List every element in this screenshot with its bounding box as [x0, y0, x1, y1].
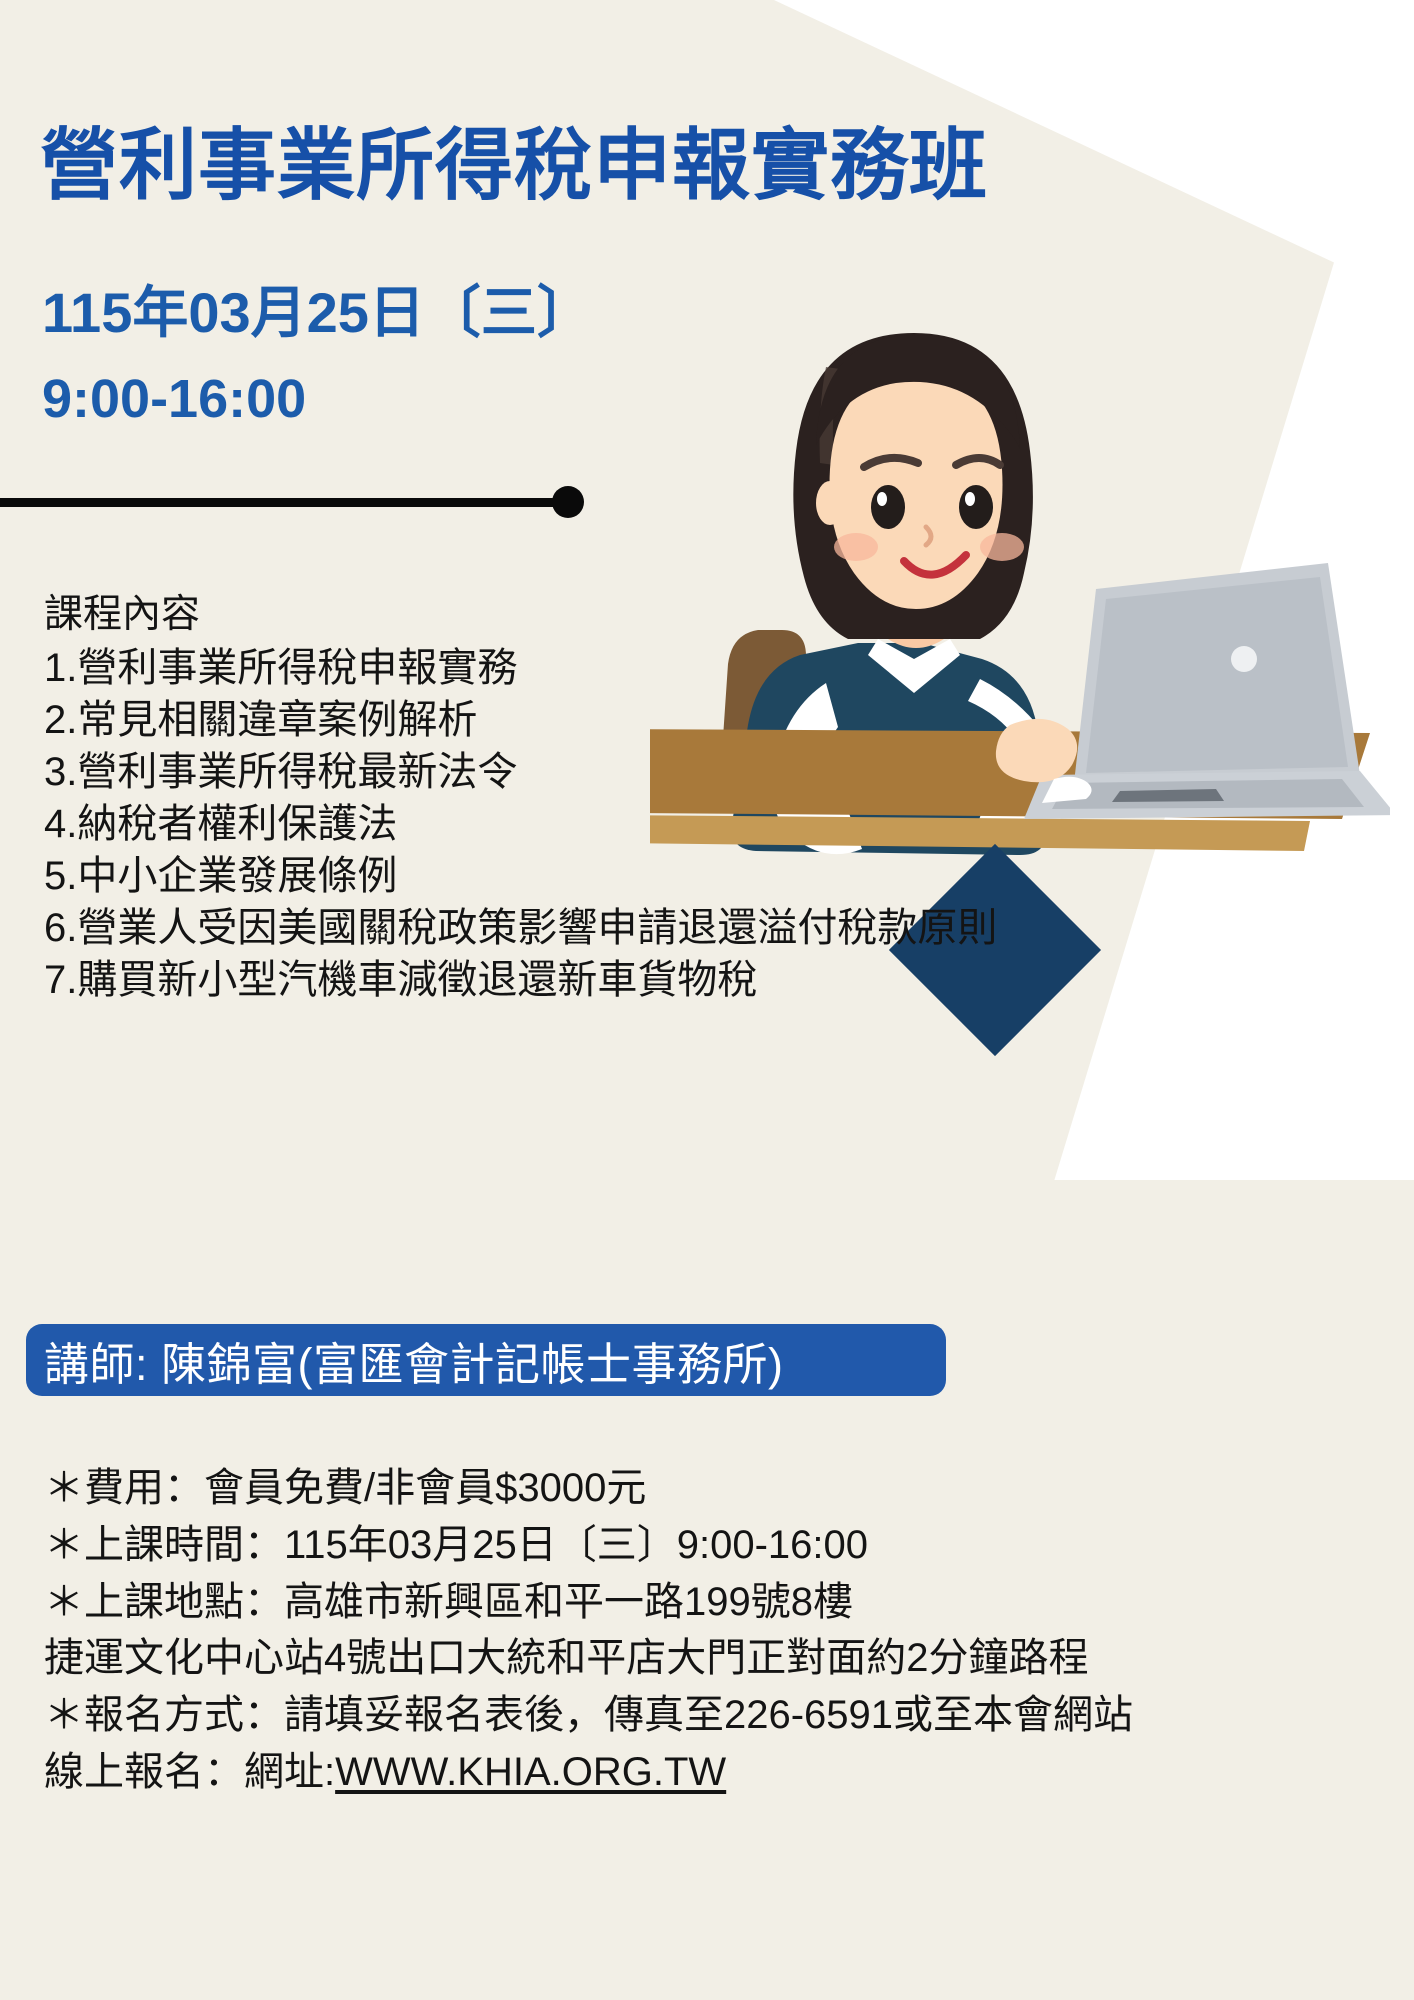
- detail-online-registration: 線上報名：網址:WWW.KHIA.ORG.TW: [44, 1744, 1133, 1801]
- divider-bar: [0, 498, 580, 507]
- online-registration-label: 線上報名：網址:: [44, 1750, 335, 1794]
- course-item: 2.常見相關違章案例解析: [44, 694, 997, 746]
- page-title: 營利事業所得稅申報實務班: [40, 103, 988, 215]
- course-item: 7.購買新小型汽機車減徵退還新車貨物稅: [44, 954, 997, 1006]
- detail-registration: ＊報名方式：請填妥報名表後，傳真至226-6591或至本會網站: [44, 1687, 1133, 1744]
- event-date: 115年03月25日〔三〕: [42, 268, 593, 349]
- speaker-banner: 講師: 陳錦富(富匯會計記帳士事務所): [26, 1324, 946, 1396]
- speaker-name: 講師: 陳錦富(富匯會計記帳士事務所): [26, 1328, 783, 1393]
- course-item: 1.營利事業所得稅申報實務: [44, 642, 997, 694]
- detail-fee: ＊費用：會員免費/非會員$3000元: [44, 1460, 1133, 1517]
- divider-rule: [0, 487, 600, 519]
- detail-class-time: ＊上課時間：115年03月25日〔三〕9:00-16:00: [44, 1517, 1133, 1574]
- detail-location: ＊上課地點：高雄市新興區和平一路199號8樓: [44, 1574, 1133, 1631]
- poster-root: 營利事業所得稅申報實務班 115年03月25日〔三〕 9:00-16:00: [0, 0, 1414, 2000]
- event-time: 9:00-16:00: [42, 368, 306, 430]
- course-item: 3.營利事業所得稅最新法令: [44, 746, 997, 798]
- course-heading: 課程內容: [44, 590, 997, 640]
- course-content-block: 課程內容 1.營利事業所得稅申報實務 2.常見相關違章案例解析 3.營利事業所得…: [44, 590, 997, 1006]
- details-block: ＊費用：會員免費/非會員$3000元 ＊上課時間：115年03月25日〔三〕9:…: [44, 1460, 1133, 1801]
- course-item: 6.營業人受因美國關稅政策影響申請退還溢付稅款原則: [44, 902, 997, 954]
- course-item: 5.中小企業發展條例: [44, 850, 997, 902]
- website-url-link[interactable]: WWW.KHIA.ORG.TW: [335, 1750, 726, 1794]
- detail-transport: 捷運文化中心站4號出口大統和平店大門正對面約2分鐘路程: [44, 1630, 1133, 1687]
- divider-dot-icon: [552, 486, 584, 518]
- course-item: 4.納稅者權利保護法: [44, 798, 997, 850]
